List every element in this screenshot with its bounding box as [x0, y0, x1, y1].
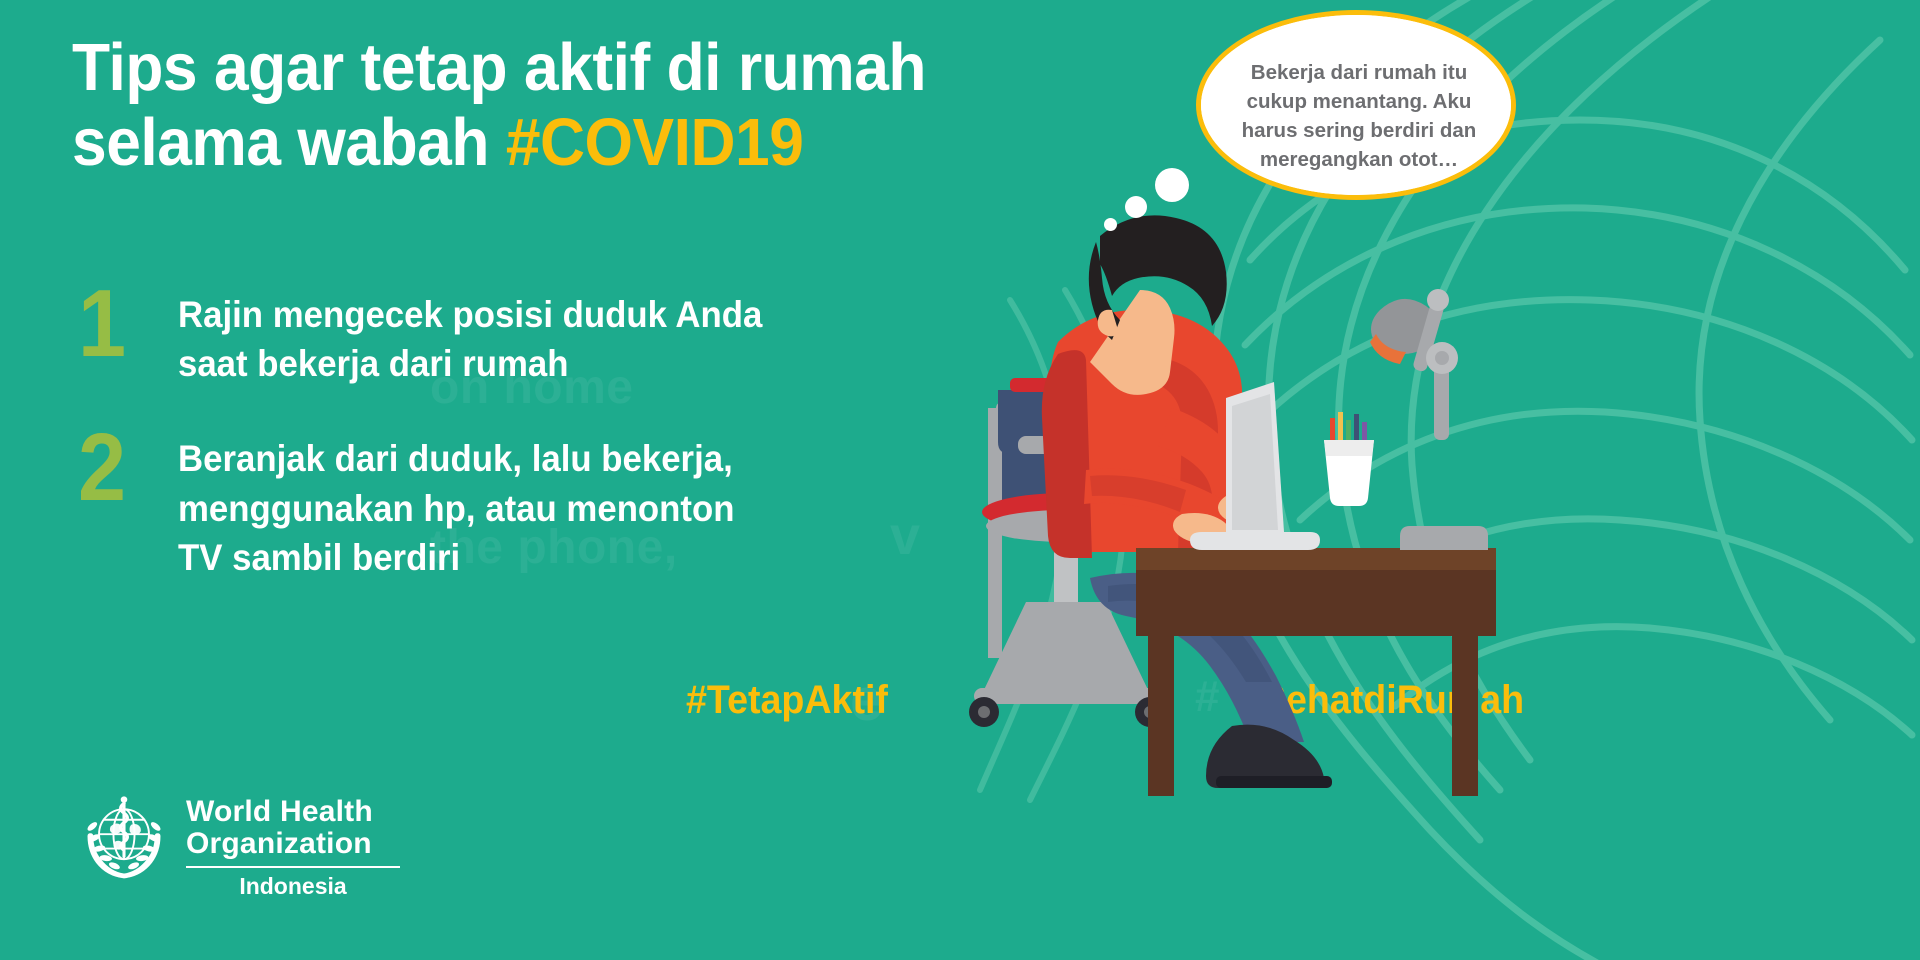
who-logo-wordmark: World Health Organization Indonesia — [186, 790, 400, 900]
who-name-line-2: Organization — [186, 828, 400, 860]
bubble-line: cukup menantang. Aku — [1232, 87, 1486, 116]
bubble-line: harus sering berdiri dan — [1232, 116, 1486, 145]
tip-text-line: Rajin mengecek posisi duduk Anda — [178, 290, 762, 339]
thought-bubble-dot-medium — [1125, 196, 1147, 218]
tip-text-line: menggunakan hp, atau menonton — [178, 484, 735, 533]
who-emblem-icon — [76, 790, 172, 886]
page-title: Tips agar tetap aktif di rumah selama wa… — [72, 30, 1012, 180]
bubble-line: meregangkan otot… — [1232, 145, 1486, 174]
covid-hashtag: #COVID19 — [506, 105, 804, 180]
list-item: 2 Beranjak dari duduk, lalu bekerja, men… — [78, 424, 878, 582]
list-item: 1 Rajin mengecek posisi duduk Anda saat … — [78, 280, 878, 388]
tip-number: 1 — [78, 280, 168, 368]
who-name-line-1: World Health — [186, 796, 400, 828]
thought-bubble: Bekerja dari rumah itu cukup menantang. … — [1196, 10, 1516, 200]
thought-bubble-text: Bekerja dari rumah itu cukup menantang. … — [1232, 58, 1486, 174]
tips-list: 1 Rajin mengecek posisi duduk Anda saat … — [78, 280, 878, 616]
title-line-1: Tips agar tetap aktif di rumah — [72, 30, 946, 105]
bubble-line: Bekerja dari rumah itu — [1232, 58, 1486, 87]
thought-bubble-dot-large — [1155, 168, 1189, 202]
desk — [1136, 548, 1496, 796]
title-line-2: selama wabah #COVID19 — [72, 105, 946, 180]
who-country: Indonesia — [186, 873, 400, 900]
who-divider — [186, 866, 400, 868]
ghost-text-3: v — [890, 505, 921, 567]
tip-text-line: TV sambil berdiri — [178, 533, 735, 582]
title-line-2-text: selama wabah — [72, 105, 506, 180]
who-logo: World Health Organization Indonesia — [76, 790, 400, 900]
tip-number: 2 — [78, 424, 168, 512]
person-working-illustration — [940, 140, 1500, 820]
tip-text: Rajin mengecek posisi duduk Anda saat be… — [178, 280, 762, 388]
pencil-cup — [1324, 412, 1374, 506]
tip-text-line: saat bekerja dari rumah — [178, 339, 762, 388]
thought-bubble-dot-small — [1104, 218, 1117, 231]
infographic-poster: on home the phone, v e # Tips agar tetap… — [0, 0, 1920, 960]
tip-text: Beranjak dari duduk, lalu bekerja, mengg… — [178, 424, 735, 582]
tip-text-line: Beranjak dari duduk, lalu bekerja, — [178, 434, 735, 483]
hashtag-tetap-aktif: #TetapAktif — [686, 678, 888, 723]
desk-lamp — [1370, 289, 1488, 550]
